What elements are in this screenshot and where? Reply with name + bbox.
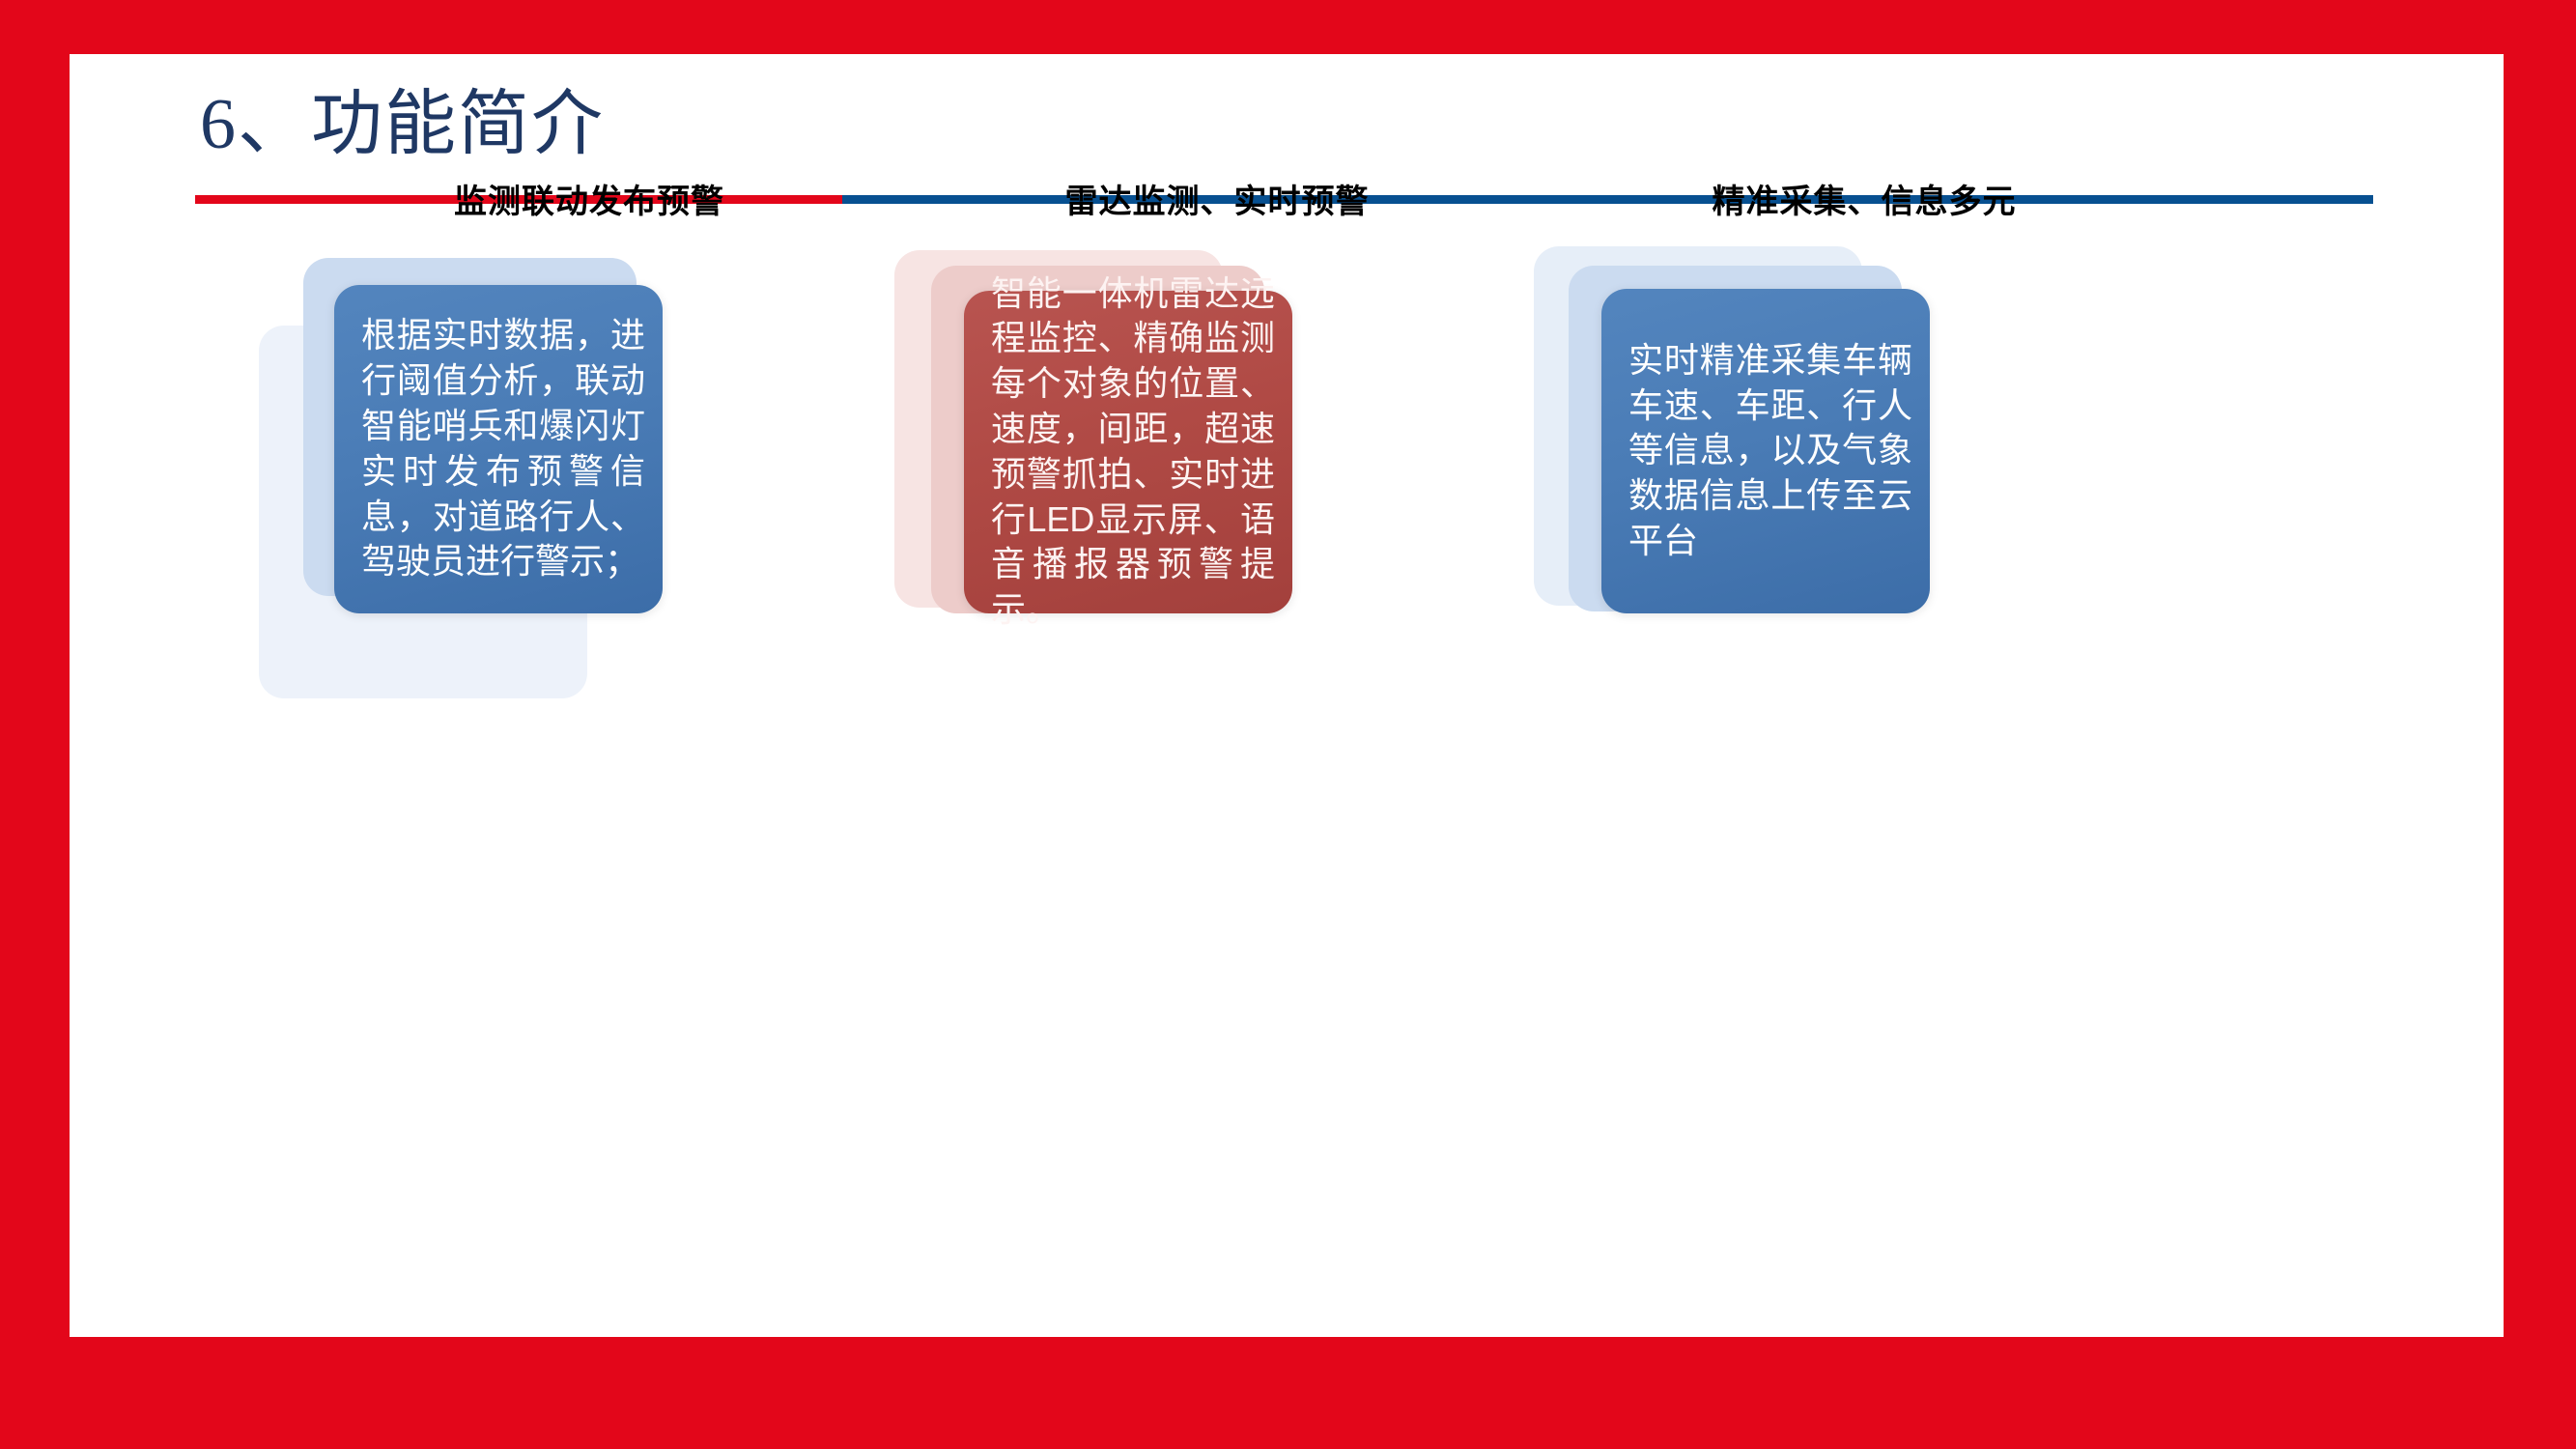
feature-card-1[interactable]: 根据实时数据，进行阈值分析，联动智能哨兵和爆闪灯实时发布预警信息，对道路行人、驾…: [334, 285, 663, 613]
feature-column-2: 雷达监测、实时预警 智能一体机雷达远程监控、精确监测每个对象的位置、速度，间距，…: [908, 184, 1526, 698]
card-body-text-3: 实时精准采集车辆车速、车距、行人等信息，以及气象数据信息上传至云平台: [1628, 338, 1912, 564]
card-body-text-1: 根据实时数据，进行阈值分析，联动智能哨兵和爆闪灯实时发布预警信息，对道路行人、驾…: [361, 313, 645, 584]
card-stack-3: 实时精准采集车辆车速、车距、行人等信息，以及气象数据信息上传至云平台: [1545, 244, 2183, 698]
card-heading-1: 监测联动发布预警: [280, 184, 898, 223]
feature-card-3[interactable]: 实时精准采集车辆车速、车距、行人等信息，以及气象数据信息上传至云平台: [1601, 289, 1930, 613]
slide-root: 6、功能简介 监测联动发布预警 根据实时数据，进行阈值分析，联动智能哨兵和爆闪灯…: [0, 0, 2576, 1449]
card-heading-3: 精准采集、信息多元: [1545, 184, 2183, 223]
feature-card-2[interactable]: 智能一体机雷达远程监控、精确监测每个对象的位置、速度，间距，超速预警抓拍、实时进…: [964, 291, 1292, 613]
feature-card-group: 监测联动发布预警 根据实时数据，进行阈值分析，联动智能哨兵和爆闪灯实时发布预警信…: [0, 0, 2576, 1449]
feature-column-3: 精准采集、信息多元 实时精准采集车辆车速、车距、行人等信息，以及气象数据信息上传…: [1545, 184, 2183, 698]
card-stack-1: 根据实时数据，进行阈值分析，联动智能哨兵和爆闪灯实时发布预警信息，对道路行人、驾…: [280, 244, 898, 698]
card-heading-2: 雷达监测、实时预警: [908, 184, 1526, 223]
feature-column-1: 监测联动发布预警 根据实时数据，进行阈值分析，联动智能哨兵和爆闪灯实时发布预警信…: [280, 184, 898, 698]
card-body-text-2: 智能一体机雷达远程监控、精确监测每个对象的位置、速度，间距，超速预警抓拍、实时进…: [991, 271, 1275, 633]
card-stack-2: 智能一体机雷达远程监控、精确监测每个对象的位置、速度，间距，超速预警抓拍、实时进…: [908, 244, 1526, 698]
